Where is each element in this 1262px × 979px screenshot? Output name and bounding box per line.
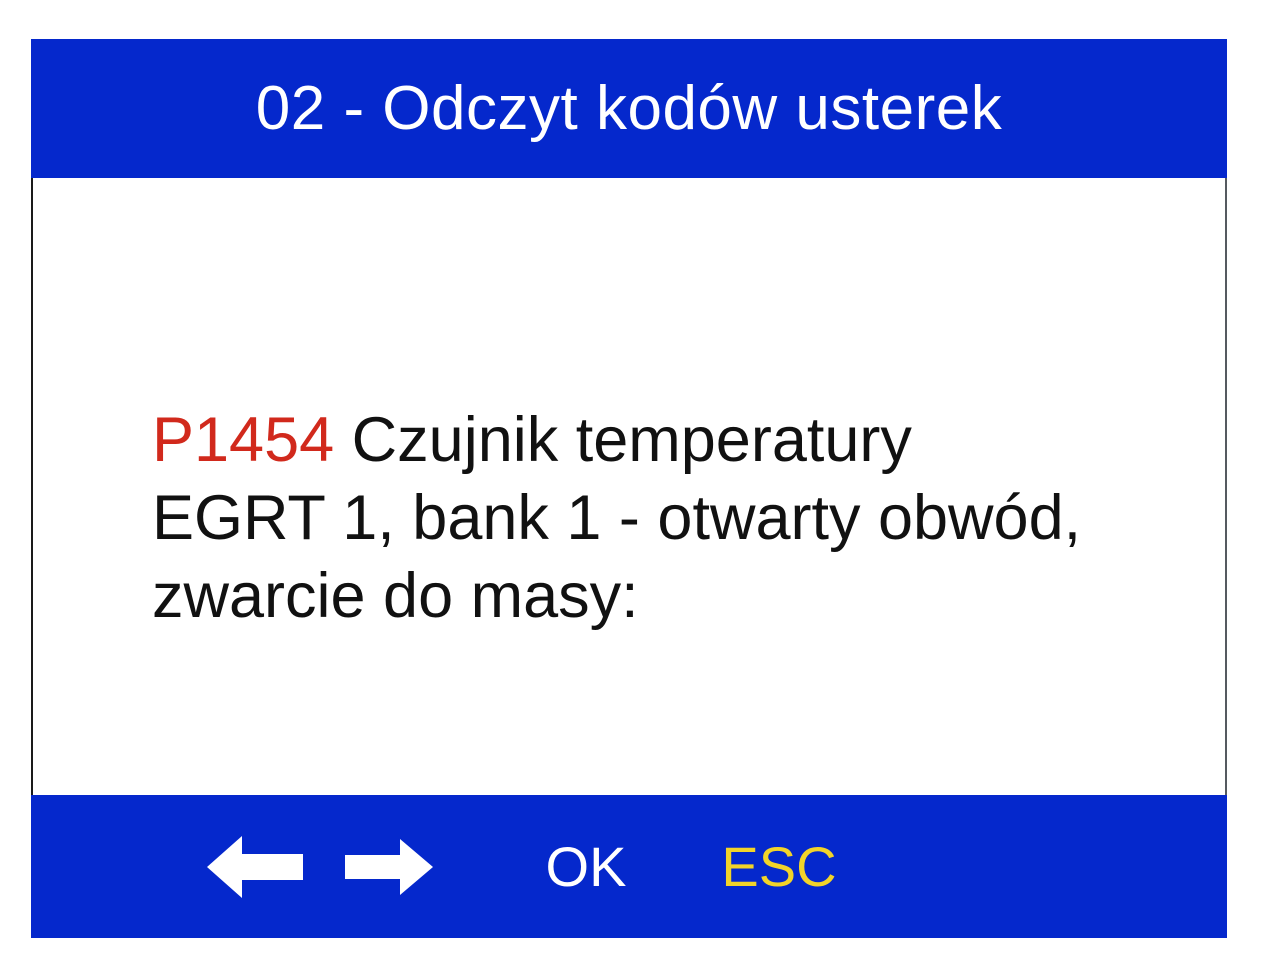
diagnostic-scanner-screen: 02 - Odczyt kodów usterek P1454 Czujnik … <box>0 0 1262 979</box>
fault-description-part-1: Czujnik temperatury <box>334 405 912 475</box>
fault-code-value: P1454 <box>152 405 334 475</box>
arrow-left-icon <box>207 836 303 898</box>
ok-button-label: OK <box>546 839 627 895</box>
fault-code-text-block: P1454 Czujnik temperatury EGRT 1, bank 1… <box>152 401 1192 635</box>
esc-button-label: ESC <box>721 839 836 895</box>
dialog-title-bar: 02 - Odczyt kodów usterek <box>31 39 1227 178</box>
page-title: 02 - Odczyt kodów usterek <box>256 78 1002 140</box>
ok-button[interactable]: OK <box>521 795 651 938</box>
dtc-read-dialog: 02 - Odczyt kodów usterek P1454 Czujnik … <box>31 39 1227 938</box>
fault-line-1: P1454 Czujnik temperatury <box>152 401 1192 479</box>
fault-content-panel: P1454 Czujnik temperatury EGRT 1, bank 1… <box>31 178 1227 795</box>
prev-button[interactable] <box>203 795 307 938</box>
fault-line-2: EGRT 1, bank 1 - otwarty obwód, <box>152 479 1192 557</box>
next-button[interactable] <box>341 795 437 938</box>
fault-line-3: zwarcie do masy: <box>152 557 1192 635</box>
esc-button[interactable]: ESC <box>699 795 859 938</box>
dialog-footer-bar: OK ESC <box>31 795 1227 938</box>
arrow-right-icon <box>345 839 433 895</box>
